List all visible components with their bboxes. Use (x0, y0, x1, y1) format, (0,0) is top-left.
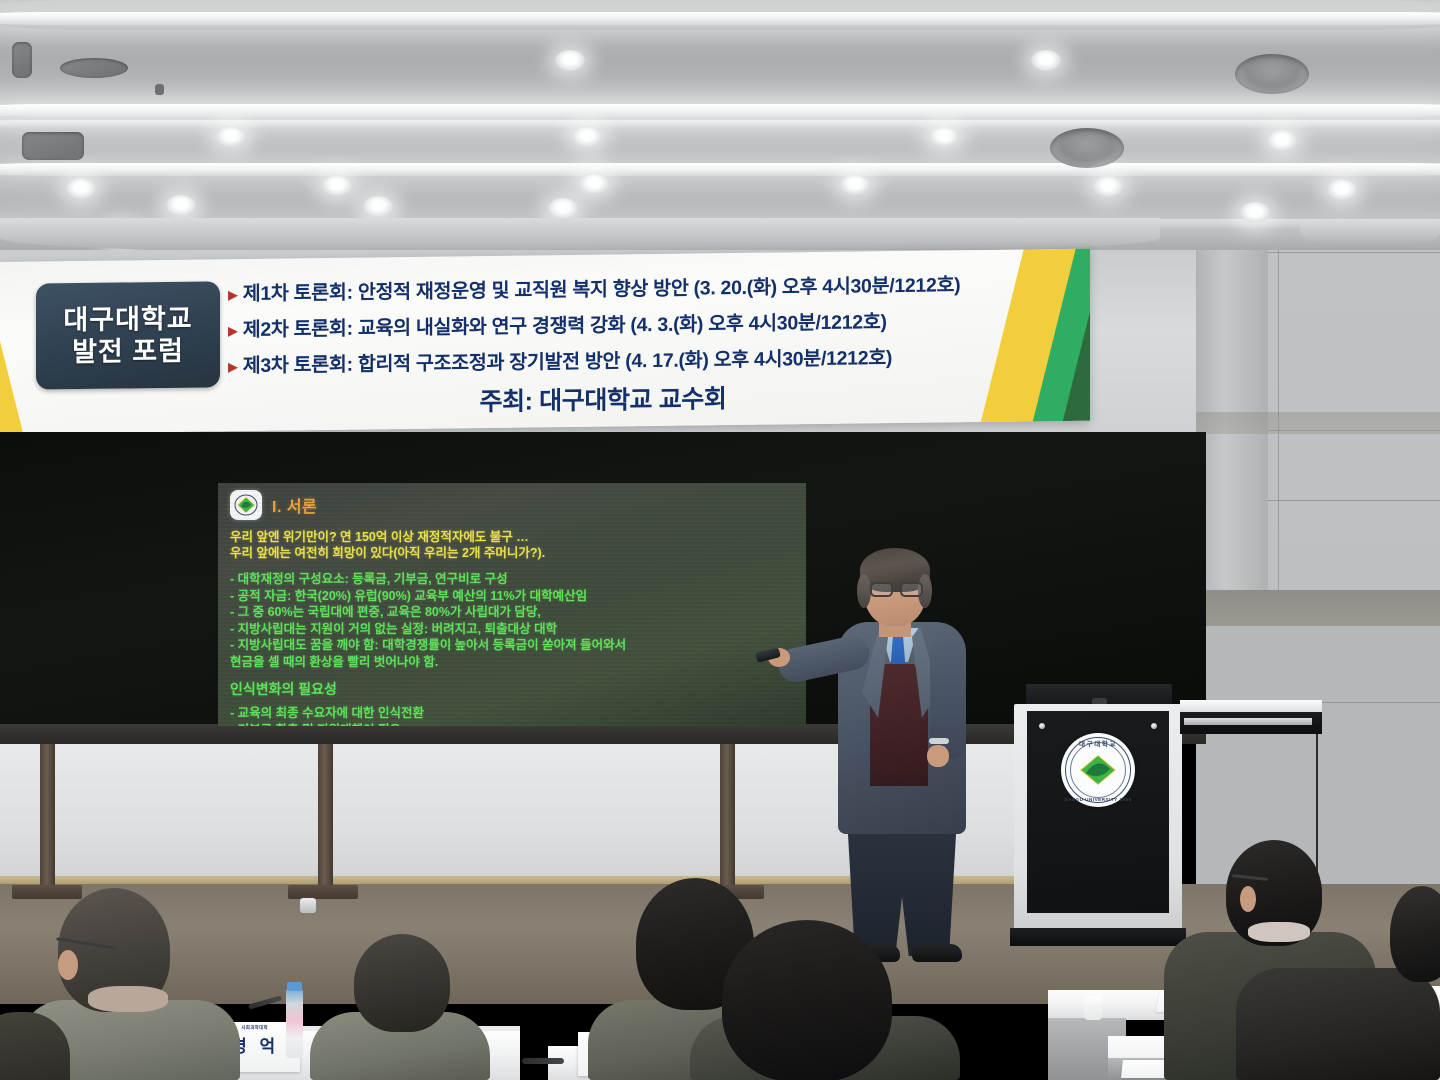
downlight (363, 196, 393, 217)
downlight (548, 198, 578, 219)
lectern-body: 대구대학교 DAEGU UNIVERSITY 1956 (1014, 704, 1182, 934)
slide-subheading: 인식변화의 필요성 (230, 680, 796, 698)
slide-bullet: - 공적 자금: 한국(20%) 유럽(90%) 교육부 예산의 11%가 대학… (230, 588, 796, 605)
ceiling-light-strip (0, 104, 1440, 117)
ceiling-light-strip (0, 120, 1440, 129)
triangle-bullet-icon: ▶ (228, 324, 238, 337)
lectern-front-panel: 대구대학교 DAEGU UNIVERSITY 1956 (1027, 711, 1169, 913)
ceiling-vent (22, 132, 84, 160)
lecture-hall-photo: 대구대학교 발전 포럼 ▶ 제1차 토론회: 안정적 재정운영 및 교직원 복지… (0, 0, 1440, 1080)
downlight (322, 175, 352, 196)
ceiling-vent (60, 58, 128, 78)
downlight (66, 178, 96, 199)
lectern: 대구대학교 DAEGU UNIVERSITY 1956 (1014, 684, 1182, 948)
eyeglasses-bridge (893, 588, 902, 590)
speaker-eyeglasses (900, 582, 923, 597)
daegu-university-emblem-icon (230, 490, 262, 520)
board-support-post (720, 744, 735, 894)
event-banner: 대구대학교 발전 포럼 ▶ 제1차 토론회: 안정적 재정운영 및 교직원 복지… (0, 249, 1090, 434)
slide-bullet: - 지방사립대는 지원이 거의 없는 실정: 버려지고, 퇴출대상 대학 (230, 621, 796, 638)
caster-wheel (300, 898, 316, 913)
slide-bullet: - 교육의 최종 수요자에 대한 인식전환 (230, 705, 796, 722)
triangle-bullet-icon: ▶ (228, 288, 238, 301)
speaker-hair (857, 574, 871, 608)
downlight (572, 126, 602, 147)
downlight (555, 50, 585, 71)
slide-bullet: - 지방사립대도 꿈을 깨야 함: 대학경쟁률이 높아서 등록금이 쏟아져 들어… (230, 637, 796, 654)
recessed-fixture (1050, 128, 1124, 168)
downlight (216, 126, 246, 147)
banner-host-text: 주최: 대구대학교 교수회 (228, 375, 1048, 421)
emblem-english-text: DAEGU UNIVERSITY 1956 (1061, 797, 1135, 802)
downlight (579, 173, 609, 194)
banner-session-item: ▶ 제2차 토론회: 교육의 내실화와 연구 경쟁력 강화 (4. 3.(화) … (228, 303, 1048, 342)
banner-logo-line1: 대구대학교 (63, 303, 192, 335)
ceiling (0, 0, 1440, 268)
projected-slide: I. 서론 우리 앞엔 위기만이? 연 150억 이상 재정적자에도 불구 … … (218, 483, 806, 726)
downlight (929, 126, 959, 147)
audience-collar (1248, 922, 1310, 942)
emblem-korean-text: 대구대학교 (1061, 738, 1135, 748)
slide-lead-line: 우리 앞엔 위기만이? 연 150억 이상 재정적자에도 불구 … (230, 529, 796, 545)
slide-bullet: - 대학재정의 구성요소: 등록금, 기부금, 연구비로 구성 (230, 571, 796, 588)
ceiling-vent (12, 42, 32, 78)
board-support-post (40, 744, 55, 894)
wall-band (1196, 590, 1440, 626)
banner-session-text: 제1차 토론회: 안정적 재정운영 및 교직원 복지 향상 방안 (3. 20.… (243, 268, 961, 306)
post-foot (288, 885, 358, 899)
downlight (1327, 179, 1357, 200)
nameplate-affiliation: 사회과학대학 (241, 1025, 268, 1031)
bottle-cap (287, 982, 302, 991)
ceiling-soffit (1300, 220, 1440, 248)
downlight (166, 195, 196, 216)
ceiling-soffit (0, 218, 1160, 254)
banner-logo-box: 대구대학교 발전 포럼 (36, 281, 220, 389)
slide-bullet-cont: 현금을 셀 때의 환상을 빨리 벗어나야 함. (230, 654, 796, 671)
triangle-bullet-icon: ▶ (228, 360, 238, 373)
speaker-wristwatch (929, 738, 949, 744)
downlight (840, 174, 870, 195)
banner-session-text: 제3차 토론회: 합리적 구조조정과 장기발전 방안 (4. 17.(화) 오후… (243, 341, 892, 378)
downlight (1240, 202, 1270, 223)
banner-logo-line2: 발전 포럼 (72, 336, 184, 368)
speaker-right-hand (927, 745, 949, 767)
banner-session-text: 제2차 토론회: 교육의 내실화와 연구 경쟁력 강화 (4. 3.(화) 오후… (243, 305, 887, 342)
daegu-university-emblem-icon: 대구대학교 DAEGU UNIVERSITY 1956 (1061, 733, 1135, 807)
side-console-rail (1184, 718, 1312, 725)
downlight (1031, 50, 1061, 71)
downlight (1267, 130, 1297, 151)
speaker-eyeglasses (870, 582, 893, 597)
ceiling-light-strip (0, 12, 1440, 25)
board-support-post (318, 744, 333, 892)
lectern-base (1010, 928, 1186, 946)
post-foot (12, 885, 82, 899)
audience-ear (58, 950, 78, 980)
eyeglasses-on-desk (522, 1058, 564, 1064)
slide-lead-line: 우리 앞에는 여전히 희망이 있다(아직 우리는 2개 주머니가?). (230, 545, 796, 561)
banner-session-item: ▶ 제3차 토론회: 합리적 구조조정과 장기발전 방안 (4. 17.(화) … (228, 339, 1048, 378)
water-bottle (286, 988, 303, 1058)
audience-head (354, 934, 450, 1032)
banner-session-list: ▶ 제1차 토론회: 안정적 재정운영 및 교직원 복지 향상 방안 (3. 2… (228, 267, 1048, 421)
slide-header: I. 서론 (230, 490, 796, 520)
paper-cup (1084, 996, 1102, 1020)
audience-torso (1236, 968, 1440, 1080)
audience-ear (1240, 886, 1256, 912)
speaker-shoe (912, 944, 962, 962)
slide-bullet: - 그 중 60%는 국립대에 편중, 교육은 80%가 사립대가 담당, (230, 604, 796, 621)
wall-band-upper (1196, 412, 1440, 434)
downlight (1093, 176, 1123, 197)
banner-stripe-yellow (0, 249, 35, 434)
ceiling-light-strip (0, 163, 1440, 176)
wall-column (1196, 250, 1268, 618)
audience-collar (88, 986, 168, 1012)
slide-title: I. 서론 (272, 493, 317, 517)
recessed-fixture (1235, 54, 1309, 94)
slide-bullet: - 기부금 확충 및 지원대책이 필요 (230, 722, 796, 726)
banner-session-item: ▶ 제1차 토론회: 안정적 재정운영 및 교직원 복지 향상 방안 (3. 2… (228, 267, 1048, 306)
audience-head (722, 920, 892, 1080)
right-wall (1196, 250, 1440, 890)
ceiling-sensor (155, 84, 164, 95)
